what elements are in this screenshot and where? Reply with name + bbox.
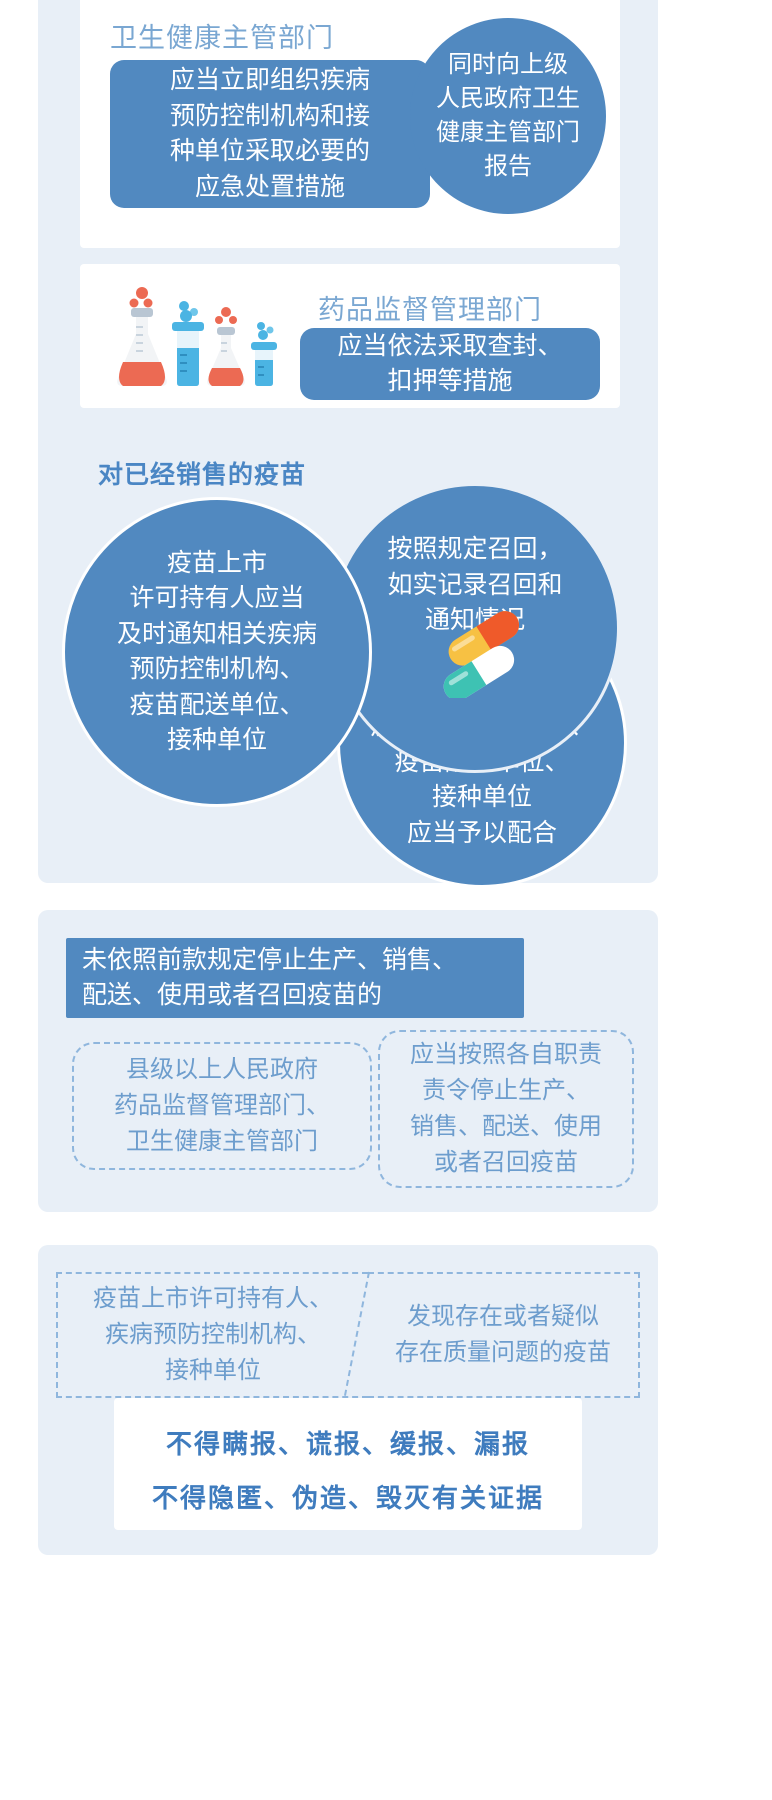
health-measure-text: 应当立即组织疾病 预防控制机构和接 种单位采取必要的 应急处置措施 [110,63,430,205]
drug-authority-heading: 药品监督管理部门 [318,288,542,327]
drug-measure-box: 应当依法采取查封、 扣押等措施 [300,328,600,400]
report-condition-text: 发现存在或者疑似 存在质量问题的疫苗 [368,1299,638,1371]
report-subjects-box[interactable]: 疫苗上市许可持有人、 疾病预防控制机构、 接种单位 [56,1272,368,1398]
violation-banner: 未依照前款规定停止生产、销售、 配送、使用或者召回疫苗的 [66,938,524,1018]
drug-measure-text: 应当依法采取查封、 扣押等措施 [300,329,600,400]
violation-action-box[interactable]: 应当按照各自职责 责令停止生产、 销售、配送、使用 或者召回疫苗 [378,1030,634,1188]
health-report-circle: 同时向上级 人民政府卫生 健康主管部门 报告 [410,18,606,214]
recall-heading: 对已经销售的疫苗 [98,455,306,491]
capsule-pills-illustration [425,606,535,698]
recall-holder-text: 疫苗上市 许可持有人应当 及时通知相关疾病 预防控制机构、 疫苗配送单位、 接种… [65,546,369,759]
violation-banner-text: 未依照前款规定停止生产、销售、 配送、使用或者召回疫苗的 [82,943,524,1014]
violation-authority-box[interactable]: 县级以上人民政府 药品监督管理部门、 卫生健康主管部门 [72,1042,372,1170]
health-authority-heading: 卫生健康主管部门 [110,16,334,55]
health-measure-box: 应当立即组织疾病 预防控制机构和接 种单位采取必要的 应急处置措施 [110,60,430,208]
report-rule-line-2: 不得隐匿、伪造、毁灭有关证据 [114,1478,582,1515]
violation-action-text: 应当按照各自职责 责令停止生产、 销售、配送、使用 或者召回疫苗 [380,1037,632,1181]
health-report-text: 同时向上级 人民政府卫生 健康主管部门 报告 [410,48,606,184]
infographic-page: 卫生健康主管部门 应当立即组织疾病 预防控制机构和接 种单位采取必要的 应急处置… [0,0,772,1800]
report-subjects-text: 疫苗上市许可持有人、 疾病预防控制机构、 接种单位 [58,1281,368,1389]
lab-flasks-illustration [98,282,288,394]
recall-holder-circle: 疫苗上市 许可持有人应当 及时通知相关疾病 预防控制机构、 疫苗配送单位、 接种… [62,497,372,807]
violation-authority-text: 县级以上人民政府 药品监督管理部门、 卫生健康主管部门 [74,1052,370,1160]
report-condition-box[interactable]: 发现存在或者疑似 存在质量问题的疫苗 [368,1272,640,1398]
report-rule-line-1: 不得瞒报、谎报、缓报、漏报 [114,1424,582,1461]
